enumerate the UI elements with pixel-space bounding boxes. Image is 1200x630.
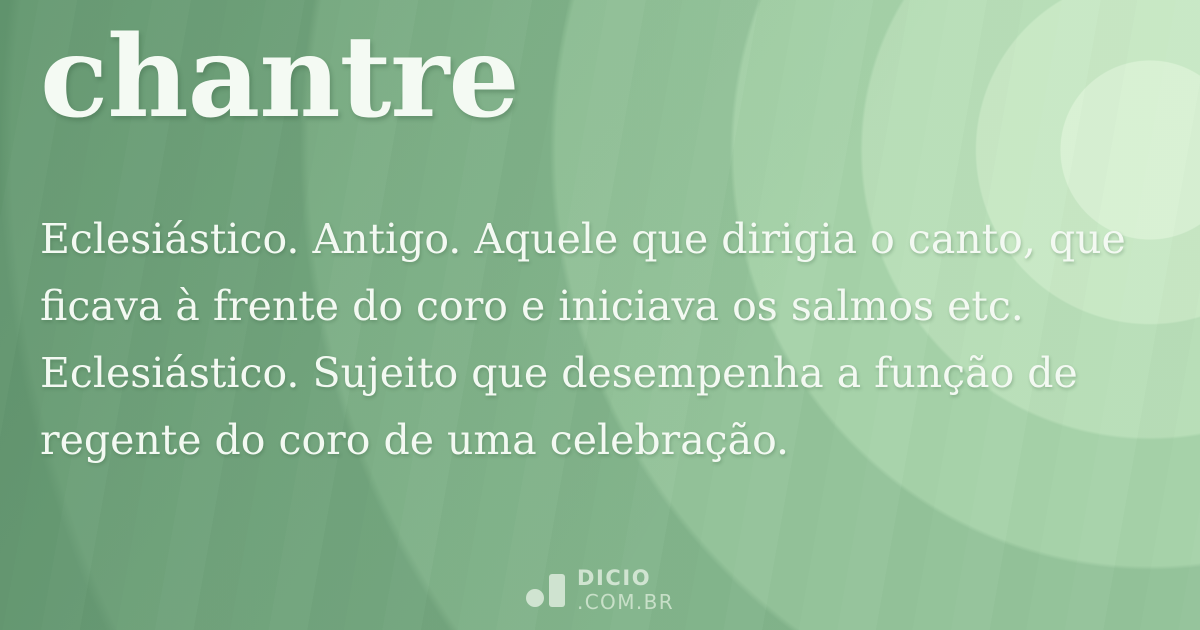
logo-name: DICIO: [577, 568, 674, 589]
logo-wordmark: DICIO .COM.BR: [577, 568, 674, 612]
definition-item: Eclesiástico. Antigo. Aquele que dirigia…: [40, 206, 1150, 340]
site-logo: DICIO .COM.BR: [0, 568, 1200, 612]
dicio-logo-icon: [526, 573, 565, 607]
logo-circle-shape: [526, 589, 544, 607]
word-definition-card: chantre Eclesiástico. Antigo. Aquele que…: [0, 0, 1200, 630]
logo-tld: .COM.BR: [577, 592, 674, 612]
definition-item: Eclesiástico. Sujeito que desempenha a f…: [40, 340, 1150, 474]
logo-bar-shape: [549, 574, 565, 607]
page-title: chantre: [40, 22, 519, 134]
card-content: chantre Eclesiástico. Antigo. Aquele que…: [0, 0, 1200, 630]
definition-list: Eclesiástico. Antigo. Aquele que dirigia…: [40, 206, 1150, 474]
